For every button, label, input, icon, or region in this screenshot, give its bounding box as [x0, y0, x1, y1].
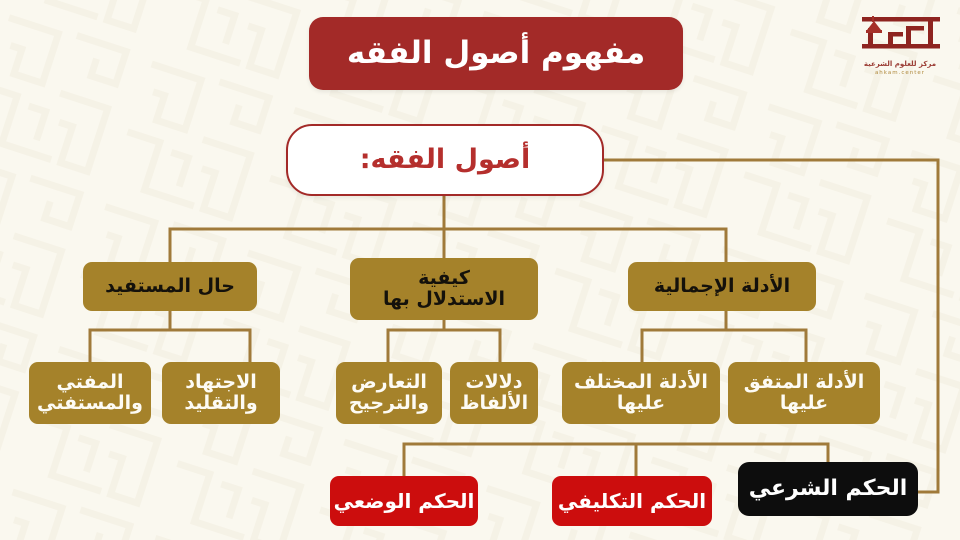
node-aladillah-almukhtalaf[interactable]: الأدلة المختلف عليها: [562, 362, 720, 424]
brand-logo: مركز للعلوم الشرعية ahkam.center: [852, 14, 948, 100]
logo-icon: [854, 14, 946, 56]
page-title: مفهوم أصول الفقه: [309, 17, 683, 90]
node-altaarud-walttarjih[interactable]: التعارض والترجيح: [336, 362, 442, 424]
node-alhukm-alshari[interactable]: الحكم الشرعي: [738, 462, 918, 516]
logo-tagline: ahkam.center: [875, 70, 925, 76]
node-hal-almustafid[interactable]: حال المستفيد: [83, 262, 257, 311]
node-alhukm-alttaklifi[interactable]: الحكم التكليفي: [552, 476, 712, 526]
node-dalalat-alalfaz[interactable]: دلالات الألفاظ: [450, 362, 538, 424]
logo-subtitle: مركز للعلوم الشرعية: [864, 60, 936, 68]
node-kayfiyyat-alistidlal[interactable]: كيفية الاستدلال بها: [350, 258, 538, 320]
node-almufti-walmustafti[interactable]: المفتي والمستفتي: [29, 362, 151, 424]
node-aladillah-alijmaliyyah[interactable]: الأدلة الإجمالية: [628, 262, 816, 311]
diagram-canvas: مفهوم أصول الفقه مركز للعلوم الشرعية ahk…: [0, 0, 960, 540]
node-aladillah-almuttafaq[interactable]: الأدلة المتفق عليها: [728, 362, 880, 424]
node-alijtihad-walttaqlid[interactable]: الاجتهاد والتقليد: [162, 362, 280, 424]
node-root-usul-alfiqh[interactable]: أصول الفقه:: [286, 124, 604, 196]
node-alhukm-alwadi[interactable]: الحكم الوضعي: [330, 476, 478, 526]
